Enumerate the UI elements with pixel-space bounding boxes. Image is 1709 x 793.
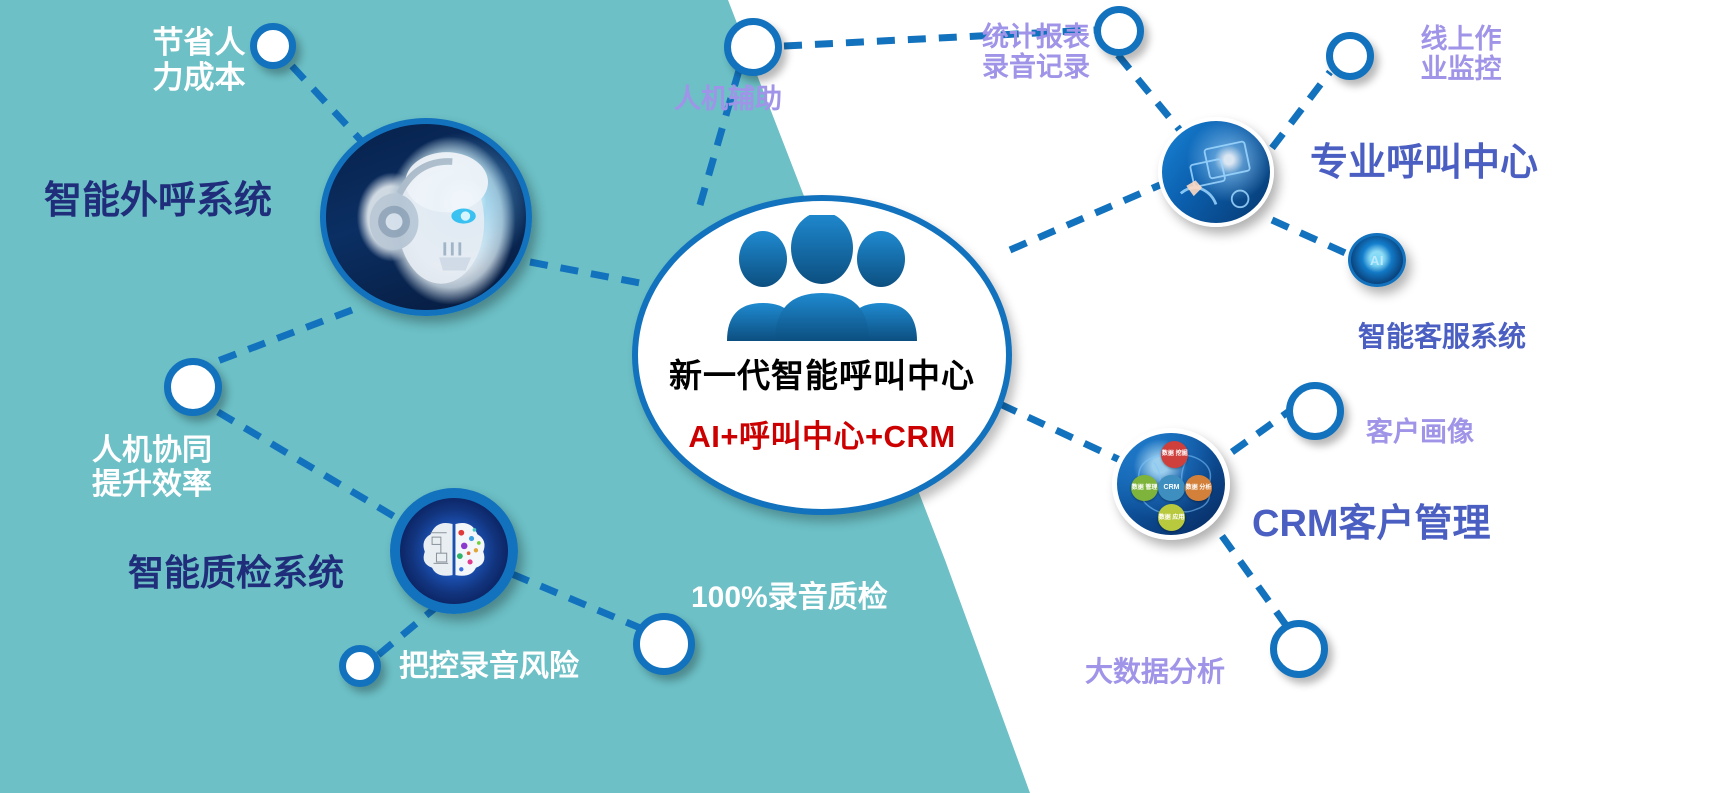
label-intelligent-quality-inspection-system: 智能质检系统 [128,553,344,593]
link-crm-to-profile [1232,412,1288,452]
label-online-operation-monitoring: 线上作 业监控 [1406,24,1516,84]
link-hub-to-callcenter [1010,185,1160,250]
hub-title: 新一代智能呼叫中心 [669,349,975,397]
label-full-recording-inspection: 100%录音质检 [691,581,888,615]
node-big-data-analysis[interactable] [1270,620,1328,678]
label-save-labor-cost: 节省人 力成本 [99,26,299,95]
label-human-machine-collaboration: 人机协同 提升效率 [62,434,242,501]
call-center-orb[interactable] [1158,117,1274,227]
label-professional-call-center: 专业呼叫中心 [1310,142,1538,185]
ai-orb-label: AI [1370,253,1384,268]
robot-head-orb[interactable] [320,118,532,316]
link-collab-to-quality [218,412,400,520]
ai-sphere-orb[interactable]: AI [1348,233,1406,287]
label-crm-customer-management: CRM客户管理 [1252,503,1491,546]
link-quality-to-risk [377,604,440,656]
link-callcenter-to-online [1272,72,1330,148]
node-full-recording-inspection[interactable] [633,613,695,675]
infographic-canvas: 新一代智能呼叫中心 AI+呼叫中心+CRM [0,0,1709,793]
label-intelligent-outbound-system: 智能外呼系统 [44,180,272,223]
label-customer-profile: 客户画像 [1366,417,1474,447]
link-hub-to-crm [1000,404,1120,460]
crm-bubble-bottom: 数据 应用 [1158,504,1185,531]
link-quality-to-100 [512,574,645,630]
brain-chip-orb[interactable] [390,488,518,614]
hub-subtitle: AI+呼叫中心+CRM [688,411,955,456]
node-online-operation-monitoring[interactable] [1326,32,1374,80]
label-statistics-report-recording: 统计报表 录音记录 [966,22,1106,82]
three-people-icon [717,215,927,345]
robot-head-art [326,124,526,310]
label-control-recording-risk: 把控录音风险 [399,650,579,684]
label-big-data-analysis: 大数据分析 [1085,656,1225,687]
brain-chip-art [416,518,492,584]
link-save-cost-to-robot [292,66,366,146]
crm-brain-orb[interactable]: 数据 挖掘 数据 管理 CRM 数据 分析 数据 应用 [1112,428,1230,540]
label-intelligent-customer-service-system: 智能客服系统 [1358,321,1526,352]
label-human-machine-assist: 人机辅助 [674,84,782,114]
node-customer-profile[interactable] [1286,382,1344,440]
node-human-machine-collaboration[interactable] [164,358,222,416]
crm-bubble-top: 数据 挖掘 [1161,441,1188,468]
link-callcenter-to-ai [1272,220,1352,256]
link-crm-to-bigdata [1222,536,1288,628]
link-hub-to-assist [700,60,742,205]
link-stats-to-callcenter [1118,55,1188,140]
hub-circle[interactable]: 新一代智能呼叫中心 AI+呼叫中心+CRM [632,195,1012,515]
link-robot-to-collab [215,310,352,362]
node-human-machine-assist[interactable] [724,18,782,76]
call-center-art [1162,121,1270,223]
link-robot-to-hub [530,262,640,283]
node-control-recording-risk[interactable] [339,645,381,687]
